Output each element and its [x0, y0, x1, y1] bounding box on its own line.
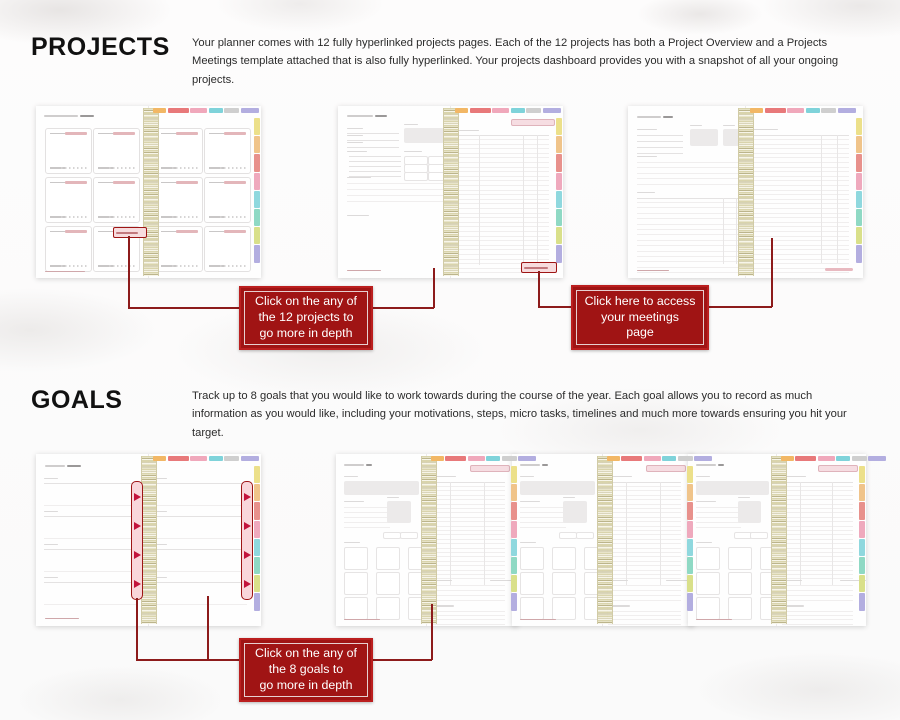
micro-step-box[interactable]	[376, 597, 400, 620]
notes-row-line	[750, 254, 849, 255]
notes-row-line	[750, 171, 849, 172]
top-tab-5[interactable]	[543, 108, 561, 113]
steps-row-line	[782, 574, 853, 575]
back-link-pill[interactable]	[646, 465, 686, 472]
project-card-link[interactable]	[176, 181, 198, 184]
side-tab-2[interactable]	[254, 154, 260, 171]
side-tab-6[interactable]	[687, 575, 693, 592]
goal-row-rule	[44, 549, 136, 550]
section-body-goals: Track up to 8 goals that you would like …	[192, 387, 864, 442]
page-heading-bold	[663, 116, 673, 117]
progress-line	[347, 195, 447, 196]
side-tab-3[interactable]	[556, 173, 562, 190]
project-card-link[interactable]	[65, 132, 87, 135]
top-tab-0[interactable]	[607, 456, 620, 461]
top-tab-4[interactable]	[502, 456, 517, 461]
table-row-line	[455, 222, 549, 223]
spiral-binding	[597, 456, 613, 624]
table-row-line	[455, 231, 549, 232]
micro-step-box[interactable]	[728, 572, 752, 595]
goal-highlight-strip-left[interactable]	[131, 481, 143, 600]
micro-step-box[interactable]	[552, 547, 576, 570]
notes-row-line	[750, 157, 849, 158]
steps-row-line	[782, 539, 853, 540]
notes-row-line	[750, 236, 849, 237]
back-link-pill[interactable]	[511, 119, 555, 126]
table-row-line	[455, 249, 549, 250]
steps-row-line	[608, 517, 681, 518]
notes-row-line	[750, 180, 849, 181]
top-tab-0[interactable]	[781, 456, 794, 461]
side-tab-5[interactable]	[511, 557, 517, 574]
micro-step-box[interactable]	[696, 547, 720, 570]
table-row-line	[455, 157, 549, 158]
top-tab-2[interactable]	[644, 456, 661, 461]
side-tab-4[interactable]	[254, 191, 260, 208]
notes-row-line	[750, 231, 849, 232]
key-point-line	[637, 167, 747, 168]
side-tab-0[interactable]	[856, 118, 862, 135]
connector-goals-h1	[136, 659, 240, 661]
notes-row-line	[750, 162, 849, 163]
micro-step-box[interactable]	[696, 572, 720, 595]
side-tab-7[interactable]	[254, 245, 260, 262]
section-title-projects: PROJECTS	[31, 33, 170, 62]
key-point-line	[637, 184, 747, 185]
side-tab-0[interactable]	[687, 466, 693, 483]
steps-row-line	[432, 508, 505, 509]
top-tab-3[interactable]	[806, 108, 820, 113]
key-point-line	[637, 173, 747, 174]
top-tab-5[interactable]	[241, 108, 259, 113]
connector-goals-v3	[431, 604, 433, 660]
project-card[interactable]	[45, 226, 92, 272]
highlighted-project-link[interactable]	[113, 227, 147, 238]
steps-row-line	[608, 548, 681, 549]
top-tab-4[interactable]	[224, 108, 239, 113]
status-box[interactable]	[404, 172, 428, 181]
task-row-line	[637, 207, 747, 208]
goal-arrow-icon	[244, 551, 251, 559]
notes-row-line	[750, 272, 849, 273]
steps-row-line	[608, 574, 681, 575]
side-tab-7[interactable]	[687, 593, 693, 610]
notes-line	[432, 585, 505, 586]
goal-row-rule-faint	[153, 571, 247, 572]
summary-line	[782, 611, 853, 612]
table-row-line	[455, 171, 549, 172]
motivation-line	[344, 517, 390, 518]
footer-note	[344, 619, 380, 620]
steps-row-line	[782, 486, 853, 487]
spiral-binding	[421, 456, 437, 624]
top-tab-4[interactable]	[678, 456, 693, 461]
side-tab-7[interactable]	[556, 245, 562, 262]
timeline-box	[563, 501, 587, 523]
steps-row-line	[782, 530, 853, 531]
top-tab-2[interactable]	[190, 108, 207, 113]
top-tab-2[interactable]	[818, 456, 835, 461]
small-button[interactable]	[559, 532, 577, 539]
top-tab-1[interactable]	[445, 456, 466, 461]
micro-step-box[interactable]	[376, 572, 400, 595]
top-tab-3[interactable]	[209, 108, 223, 113]
top-tab-2[interactable]	[492, 108, 509, 113]
summary-line	[608, 624, 681, 625]
project-card[interactable]	[204, 226, 251, 272]
side-tab-3[interactable]	[511, 521, 517, 538]
top-tab-4[interactable]	[852, 456, 867, 461]
notes-row-line	[750, 176, 849, 177]
top-tab-1[interactable]	[621, 456, 642, 461]
goal-row-rule	[153, 516, 247, 517]
goal-row-rule-faint	[44, 538, 136, 539]
side-tab-4[interactable]	[859, 539, 865, 556]
side-tab-2[interactable]	[556, 154, 562, 171]
planner-spread-projects-dashboard[interactable]	[36, 106, 261, 278]
side-tab-2[interactable]	[856, 154, 862, 171]
steps-row-line	[432, 534, 505, 535]
goal-arrow-icon	[134, 580, 141, 588]
notes-row-line	[750, 226, 849, 227]
small-button[interactable]	[750, 532, 768, 539]
notes-header-rule	[750, 135, 849, 136]
micro-step-box[interactable]	[376, 547, 400, 570]
top-tab-1[interactable]	[470, 108, 491, 113]
steps-col-divider	[450, 482, 451, 585]
small-button[interactable]	[383, 532, 401, 539]
top-tab-4[interactable]	[224, 456, 239, 461]
steps-row-line	[782, 556, 853, 557]
project-card-progress-dots	[172, 216, 198, 218]
motivation-line	[520, 522, 566, 523]
table-row-line	[455, 217, 549, 218]
goal-arrow-icon	[134, 493, 141, 501]
steps-row-line	[608, 570, 681, 571]
side-tab-1[interactable]	[687, 484, 693, 501]
micro-step-box[interactable]	[552, 597, 576, 620]
side-tab-1[interactable]	[254, 484, 260, 501]
side-tab-0[interactable]	[254, 466, 260, 483]
side-tab-6[interactable]	[859, 575, 865, 592]
micro-step-box[interactable]	[552, 572, 576, 595]
top-tab-3[interactable]	[836, 456, 850, 461]
project-card-progress-dots	[109, 216, 135, 218]
milestone-line	[349, 171, 401, 172]
micro-step-box[interactable]	[728, 547, 752, 570]
micro-step-box[interactable]	[520, 572, 544, 595]
project-card[interactable]	[204, 128, 251, 174]
side-tab-column	[856, 118, 862, 262]
top-tab-row	[153, 456, 259, 461]
small-button[interactable]	[576, 532, 594, 539]
steps-col-divider	[626, 482, 627, 585]
steps-row-line	[432, 556, 505, 557]
back-link-pill[interactable]	[470, 465, 510, 472]
task-row-line	[637, 251, 747, 252]
side-tab-3[interactable]	[856, 173, 862, 190]
side-tab-2[interactable]	[254, 502, 260, 519]
spread-right-page	[746, 106, 864, 278]
goal-highlight-strip-right[interactable]	[241, 481, 253, 600]
top-tab-4[interactable]	[821, 108, 836, 113]
project-card-link[interactable]	[224, 230, 246, 233]
task-col-divider	[723, 198, 724, 264]
top-tab-row	[781, 456, 887, 461]
task-row-line	[637, 261, 747, 262]
steps-table-header	[432, 482, 505, 483]
top-tab-3[interactable]	[662, 456, 676, 461]
project-card[interactable]	[204, 177, 251, 223]
goal-row-rule	[153, 483, 247, 484]
side-tab-column	[254, 466, 260, 610]
steps-row-line	[432, 543, 505, 544]
side-tab-4[interactable]	[856, 191, 862, 208]
planner-spread-goals-dashboard[interactable]	[36, 454, 261, 626]
connector-meetings-h1	[538, 306, 572, 308]
side-tab-3[interactable]	[254, 173, 260, 190]
side-tab-7[interactable]	[859, 593, 865, 610]
steps-row-line	[432, 486, 505, 487]
project-card-link[interactable]	[113, 132, 135, 135]
side-tab-0[interactable]	[511, 466, 517, 483]
side-tab-4[interactable]	[254, 539, 260, 556]
side-tab-6[interactable]	[856, 227, 862, 244]
top-tab-5[interactable]	[838, 108, 856, 113]
task-row-line	[637, 229, 747, 230]
micro-step-box[interactable]	[344, 597, 368, 620]
side-tab-2[interactable]	[859, 502, 865, 519]
project-card[interactable]	[156, 128, 203, 174]
project-card-link[interactable]	[224, 132, 246, 135]
project-card-link[interactable]	[65, 181, 87, 184]
overview-notes-label	[404, 124, 418, 125]
side-tab-5[interactable]	[254, 557, 260, 574]
notes-row-line	[750, 263, 849, 264]
side-tab-4[interactable]	[687, 539, 693, 556]
planner-spread-goal-detail-1[interactable]	[336, 454, 518, 626]
table-row-line	[455, 240, 549, 241]
micro-step-box[interactable]	[520, 547, 544, 570]
project-card[interactable]	[45, 177, 92, 223]
top-tab-5[interactable]	[518, 456, 536, 461]
steps-row-line	[608, 561, 681, 562]
side-tab-5[interactable]	[556, 209, 562, 226]
side-tab-4[interactable]	[556, 191, 562, 208]
project-card[interactable]	[156, 177, 203, 223]
progress-line	[347, 183, 447, 184]
top-tab-0[interactable]	[153, 456, 166, 461]
side-tab-0[interactable]	[859, 466, 865, 483]
project-card-link[interactable]	[176, 132, 198, 135]
notes-row-line	[750, 153, 849, 154]
top-tab-3[interactable]	[209, 456, 223, 461]
steps-row-line	[608, 565, 681, 566]
side-tab-7[interactable]	[511, 593, 517, 610]
top-tab-1[interactable]	[168, 108, 189, 113]
project-card[interactable]	[156, 226, 203, 272]
top-tab-2[interactable]	[190, 456, 207, 461]
steps-col-divider	[660, 482, 661, 585]
side-tab-0[interactable]	[254, 118, 260, 135]
side-tab-column	[687, 466, 693, 610]
task-row-line	[637, 202, 747, 203]
project-card[interactable]	[93, 177, 140, 223]
steps-row-line	[608, 530, 681, 531]
timeline-box	[738, 501, 761, 523]
side-tab-1[interactable]	[556, 136, 562, 153]
notes-row-line	[750, 217, 849, 218]
side-tab-3[interactable]	[859, 521, 865, 538]
steps-row-line	[432, 517, 505, 518]
side-tab-5[interactable]	[856, 209, 862, 226]
top-tab-5[interactable]	[241, 456, 259, 461]
project-card[interactable]	[45, 128, 92, 174]
top-tab-row	[455, 108, 561, 113]
planner-spread-goal-detail-3[interactable]	[688, 454, 866, 626]
table-col-divider	[479, 135, 480, 265]
side-tab-7[interactable]	[856, 245, 862, 262]
side-tab-1[interactable]	[859, 484, 865, 501]
steps-row-line	[608, 534, 681, 535]
steps-row-line	[608, 556, 681, 557]
micro-step-box[interactable]	[696, 597, 720, 620]
side-tab-2[interactable]	[511, 502, 517, 519]
top-tab-5[interactable]	[694, 456, 712, 461]
notes-row-line	[750, 249, 849, 250]
summary-line	[608, 615, 681, 616]
micro-step-box[interactable]	[344, 547, 368, 570]
goal-row-rule-faint	[44, 571, 136, 572]
project-card-progress-dots	[220, 167, 246, 169]
project-card-link[interactable]	[113, 181, 135, 184]
goal-name-box	[696, 481, 769, 495]
side-tab-5[interactable]	[687, 557, 693, 574]
steps-row-line	[782, 565, 853, 566]
summary-line	[608, 611, 681, 612]
small-button[interactable]	[400, 532, 418, 539]
callout-projects-12[interactable]: Click on the any of the 12 projects to g…	[239, 286, 373, 350]
connector-projects-v1	[128, 236, 130, 308]
steps-row-line	[782, 570, 853, 571]
steps-row-line	[432, 495, 505, 496]
motivation-line	[344, 512, 390, 513]
footer-note	[45, 271, 85, 272]
project-card-progress-dots	[172, 167, 198, 169]
connector-goals-v1	[136, 598, 138, 660]
task-row-line	[637, 272, 747, 273]
planner-spread-project-meetings[interactable]	[628, 106, 863, 278]
side-tab-0[interactable]	[556, 118, 562, 135]
steps-table-header	[608, 482, 681, 483]
side-tab-6[interactable]	[511, 575, 517, 592]
top-tab-0[interactable]	[431, 456, 444, 461]
back-link-pill[interactable]	[818, 465, 858, 472]
micro-step-box[interactable]	[344, 572, 368, 595]
notes-line	[608, 590, 681, 591]
project-card-link[interactable]	[224, 181, 246, 184]
side-tab-7[interactable]	[254, 593, 260, 610]
top-tab-3[interactable]	[486, 456, 500, 461]
motivation-line	[696, 512, 741, 513]
side-tab-3[interactable]	[687, 521, 693, 538]
side-tab-3[interactable]	[254, 521, 260, 538]
motivation-line	[696, 517, 741, 518]
top-tab-2[interactable]	[468, 456, 485, 461]
notes-row-line	[750, 213, 849, 214]
table-row-line	[455, 254, 549, 255]
project-card[interactable]	[93, 128, 140, 174]
steps-row-line	[432, 574, 505, 575]
table-row-line	[455, 176, 549, 177]
top-tab-2[interactable]	[787, 108, 804, 113]
side-tab-5[interactable]	[254, 209, 260, 226]
goal-arrow-icon	[244, 580, 251, 588]
top-tab-1[interactable]	[795, 456, 816, 461]
notes-line	[782, 600, 853, 601]
side-tab-5[interactable]	[859, 557, 865, 574]
motivation-line	[520, 517, 566, 518]
detail-line	[637, 147, 683, 148]
callout-goals-8[interactable]: Click on the any of the 8 goals to go mo…	[239, 638, 373, 702]
callout-meetings[interactable]: Click here to access your meetings page	[571, 285, 709, 350]
page-heading	[696, 464, 716, 466]
top-tab-0[interactable]	[750, 108, 763, 113]
project-card-link[interactable]	[65, 230, 87, 233]
top-tab-4[interactable]	[526, 108, 541, 113]
top-tab-3[interactable]	[511, 108, 525, 113]
steps-row-line	[608, 521, 681, 522]
task-row-line	[637, 224, 747, 225]
page-heading	[347, 115, 373, 117]
side-tab-6[interactable]	[254, 575, 260, 592]
table-row-line	[455, 148, 549, 149]
top-tab-1[interactable]	[765, 108, 786, 113]
notes-row-line	[750, 245, 849, 246]
task-row-line	[637, 218, 747, 219]
side-tab-6[interactable]	[254, 227, 260, 244]
top-tab-0[interactable]	[153, 108, 166, 113]
task-row-line	[637, 240, 747, 241]
footer-link[interactable]	[825, 268, 853, 271]
side-tab-1[interactable]	[254, 136, 260, 153]
micro-step-box[interactable]	[728, 597, 752, 620]
top-tab-5[interactable]	[868, 456, 886, 461]
notes-row-line	[750, 190, 849, 191]
planner-spread-project-overview[interactable]	[338, 106, 563, 278]
side-tab-2[interactable]	[687, 502, 693, 519]
micro-step-box[interactable]	[520, 597, 544, 620]
steps-row-line	[782, 521, 853, 522]
top-tab-1[interactable]	[168, 456, 189, 461]
goal-row-rule-faint	[44, 604, 136, 605]
top-tab-0[interactable]	[455, 108, 468, 113]
goal-row-rule	[44, 483, 136, 484]
project-card-link[interactable]	[176, 230, 198, 233]
side-tab-4[interactable]	[511, 539, 517, 556]
planner-spread-goal-detail-2[interactable]	[512, 454, 694, 626]
steps-row-line	[432, 521, 505, 522]
side-tab-1[interactable]	[511, 484, 517, 501]
motivation-line	[520, 507, 566, 508]
side-tab-6[interactable]	[556, 227, 562, 244]
side-tab-1[interactable]	[856, 136, 862, 153]
spiral-binding	[141, 456, 157, 624]
spiral-binding	[443, 108, 459, 276]
goal-row-rule-faint	[153, 604, 247, 605]
callout-text: Click on the any of the 12 projects to g…	[244, 291, 368, 345]
steps-row-line	[782, 552, 853, 553]
